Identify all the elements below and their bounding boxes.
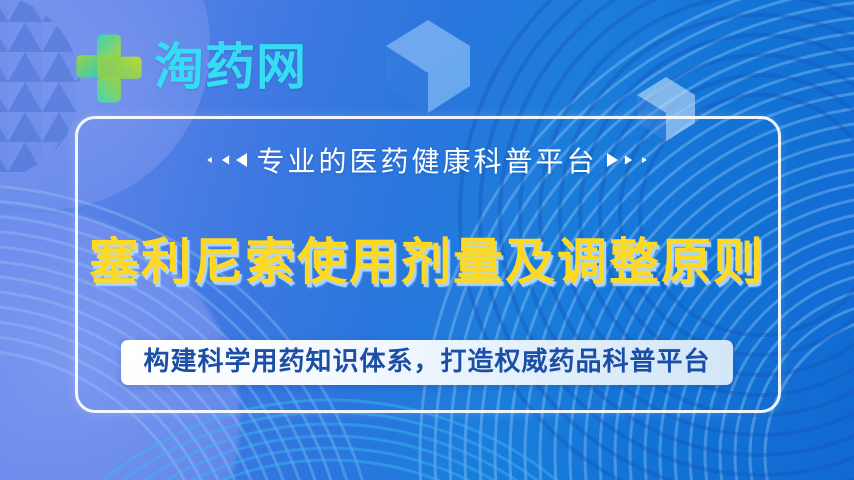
triangle-right-icon xyxy=(642,157,647,163)
triangle-right-icon xyxy=(624,155,631,164)
triangle-left-icon xyxy=(236,153,247,167)
brand-name: 淘药网 xyxy=(154,42,307,92)
page-title: 塞利尼索使用剂量及调整原则 xyxy=(0,222,854,294)
triangle-left-icon xyxy=(222,155,229,164)
eyebrow-row: 专业的医药健康科普平台 xyxy=(0,140,854,180)
triangle-left-icon xyxy=(208,157,213,163)
isometric-cube-icon xyxy=(382,16,474,116)
medical-cross-pinwheel-icon xyxy=(72,30,146,104)
tagline-text: 构建科学用药知识体系，打造权威药品科普平台 xyxy=(143,346,710,376)
right-arrows-group xyxy=(607,153,650,167)
brand-logo[interactable]: 淘药网 xyxy=(72,30,307,104)
tagline-row: 构建科学用药知识体系，打造权威药品科普平台 xyxy=(0,340,854,385)
eyebrow-text: 专业的医药健康科普平台 xyxy=(256,140,597,180)
tagline-pill: 构建科学用药知识体系，打造权威药品科普平台 xyxy=(121,340,732,385)
left-arrows-group xyxy=(204,153,247,167)
promo-banner: 淘药网 专业的医药健康科普平台 塞利尼索使用剂量及调整原则 构建科学用药知识体系… xyxy=(0,0,854,480)
triangle-right-icon xyxy=(607,153,618,167)
